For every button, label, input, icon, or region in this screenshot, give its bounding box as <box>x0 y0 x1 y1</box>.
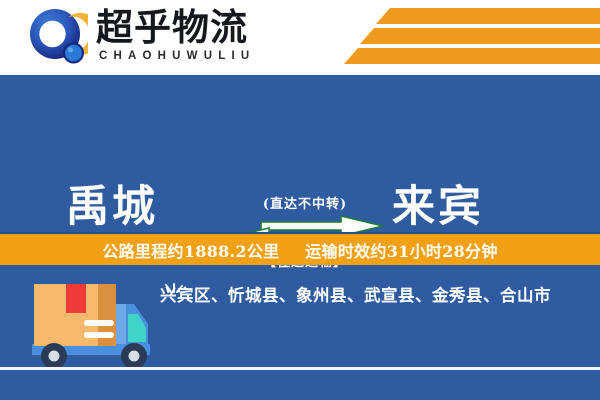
direct-service-note: (直达不中转) <box>240 193 370 212</box>
origin-city: 禹城 <box>66 172 158 234</box>
logistics-route-banner: 超乎物流 CHAOHUWULIU 禹城 (直达不中转) 【 <box>0 0 600 400</box>
road-line <box>0 367 600 370</box>
duration-text: 运输时效约31小时28分钟 <box>305 242 497 261</box>
route-info-bar: 公路里程约1888.2公里 运输时效约31小时28分钟 <box>0 232 600 265</box>
delivery-truck-icon <box>22 272 172 377</box>
brand-name-en: CHAOHUWULIU <box>99 50 255 62</box>
coverage-districts: 兴宾区、忻城县、象州县、武宣县、金秀县、合山市 <box>160 282 590 306</box>
route-section: 禹城 (直达不中转) 【往返运输】 来宾 <box>0 75 600 232</box>
circle-logo-icon <box>28 8 88 68</box>
motion-sparkle-icon <box>163 283 185 303</box>
brand-name-cn: 超乎物流 <box>96 7 248 47</box>
distance-text: 公路里程约1888.2公里 <box>102 242 279 261</box>
destination-city: 来宾 <box>392 172 484 234</box>
speed-stripes-icon <box>330 6 600 68</box>
info-bar-content: 公路里程约1888.2公里 运输时效约31小时28分钟 <box>102 238 497 262</box>
banner-header: 超乎物流 CHAOHUWULIU <box>0 0 600 75</box>
